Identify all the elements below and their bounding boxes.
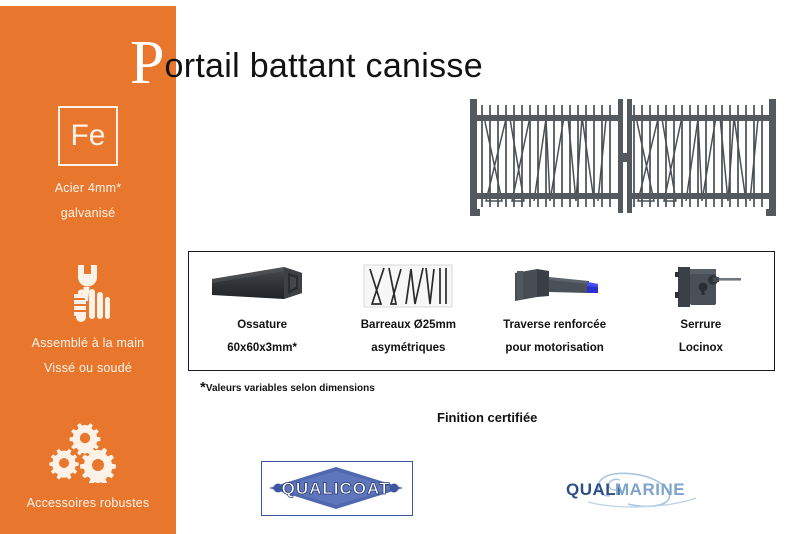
feature-ossature: Ossature 60x60x3mm*: [189, 252, 335, 370]
double-swing-gate-illustration: [466, 96, 784, 218]
lock-photo: [656, 260, 746, 312]
svg-text:MARINE: MARINE: [615, 480, 685, 499]
gears-icon: [0, 421, 176, 483]
sidebar-label-assembly-2: Vissé ou soudé: [0, 362, 176, 375]
feature-panel: Ossature 60x60x3mm* Barreaux: [188, 251, 775, 371]
feature-barreaux-line1: Barreaux Ø25mm: [361, 319, 456, 332]
page-title-text: ortail battant canisse: [164, 47, 482, 86]
hand-with-wrench-icon: [0, 261, 176, 323]
feature-traverse: Traverse renforcée pour motorisation: [482, 252, 628, 370]
qualimarine-logo: QUALI MARINE: [558, 466, 708, 512]
frame-profile-photo: [210, 260, 314, 312]
footnote: *Valeurs variables selon dimensions: [200, 379, 375, 396]
sidebar-label-steel-2: galvanisé: [0, 207, 176, 220]
page-title-drop-cap: P: [130, 32, 164, 94]
sidebar-label-assembly-1: Assemblé à la main: [0, 337, 176, 350]
feature-ossature-line1: Ossature: [237, 319, 287, 332]
fe-element-box-icon: Fe: [58, 106, 118, 166]
sidebar-label-accessories-1: Accessoires robustes: [0, 497, 176, 510]
feature-serrure-line2: Locinox: [679, 342, 723, 355]
datasheet-page: Fe Acier 4mm* galvanisé: [0, 0, 800, 534]
sidebar-block-accessories: Accessoires robustes: [0, 421, 176, 510]
page-title: P ortail battant canisse: [130, 26, 483, 88]
feature-serrure: Serrure Locinox: [628, 252, 774, 370]
sidebar-block-assembly: Assemblé à la main Vissé ou soudé: [0, 261, 176, 375]
feature-ossature-line2: 60x60x3mm*: [227, 342, 297, 355]
footnote-text: Valeurs variables selon dimensions: [206, 383, 375, 394]
asymmetric-bars-photo: [363, 260, 453, 312]
reinforced-crossbar-photo: [503, 260, 607, 312]
feature-barreaux-line2: asymétriques: [371, 342, 445, 355]
certification-heading: Finition certifiée: [437, 410, 537, 425]
qualicoat-logo: QUALICOAT: [261, 461, 413, 516]
feature-barreaux: Barreaux Ø25mm asymétriques: [335, 252, 481, 370]
svg-text:QUALICOAT: QUALICOAT: [282, 479, 391, 498]
feature-traverse-line2: pour motorisation: [505, 342, 603, 355]
sidebar-label-steel-1: Acier 4mm*: [0, 182, 176, 195]
fe-symbol: Fe: [70, 121, 105, 151]
sidebar-block-steel: Fe Acier 4mm* galvanisé: [0, 106, 176, 220]
svg-text:QUALI: QUALI: [566, 480, 621, 499]
feature-serrure-line1: Serrure: [680, 319, 721, 332]
feature-traverse-line1: Traverse renforcée: [503, 319, 606, 332]
